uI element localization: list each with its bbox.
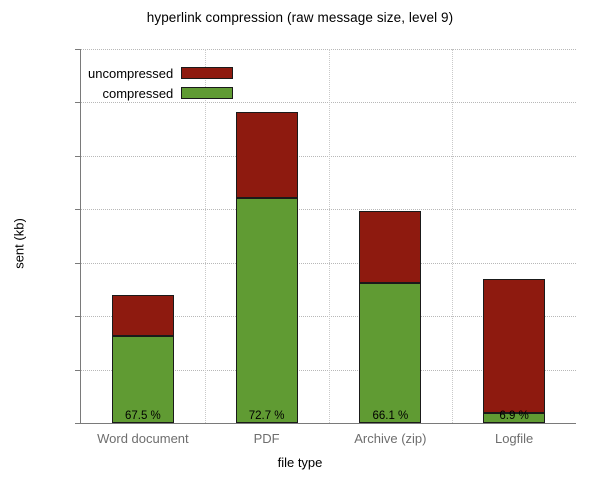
y-tick-mark: [75, 316, 81, 317]
legend-label: uncompressed: [88, 66, 173, 81]
legend-item[interactable]: uncompressed: [88, 63, 233, 83]
legend-swatch-uncompressed: [181, 67, 233, 79]
y-tick-mark: [75, 209, 81, 210]
bar-segment-compressed[interactable]: [359, 283, 421, 423]
y-axis-label: sent (kb): [12, 174, 27, 314]
y-tick-mark: [75, 102, 81, 103]
legend-label: compressed: [102, 86, 173, 101]
y-tick-mark: [75, 49, 81, 50]
bar-segment-uncompressed[interactable]: [236, 112, 298, 197]
x-axis-label: file type: [0, 455, 600, 470]
gridline-x: [452, 49, 453, 423]
bar-segment-compressed[interactable]: [112, 336, 174, 423]
bar-segment-compressed[interactable]: [483, 413, 545, 423]
y-tick-mark: [75, 263, 81, 264]
bar-segment-uncompressed[interactable]: [359, 211, 421, 283]
legend-swatch-compressed: [181, 87, 233, 99]
x-tick-label-logfile: Logfile: [434, 431, 594, 446]
y-tick-mark: [75, 370, 81, 371]
y-tick-mark: [75, 423, 81, 424]
bar-segment-compressed[interactable]: [236, 198, 298, 423]
chart-container: hyperlink compression (raw message size,…: [0, 0, 600, 480]
chart-title: hyperlink compression (raw message size,…: [0, 10, 600, 25]
plot-area: 050100150200250300350 67.5 %72.7 %66.1 %…: [80, 49, 576, 424]
chart-legend: uncompressedcompressed: [82, 59, 239, 108]
legend-item[interactable]: compressed: [88, 83, 233, 103]
bar-segment-uncompressed[interactable]: [483, 279, 545, 413]
bar-segment-uncompressed[interactable]: [112, 295, 174, 337]
gridline-x: [329, 49, 330, 423]
y-tick-mark: [75, 156, 81, 157]
